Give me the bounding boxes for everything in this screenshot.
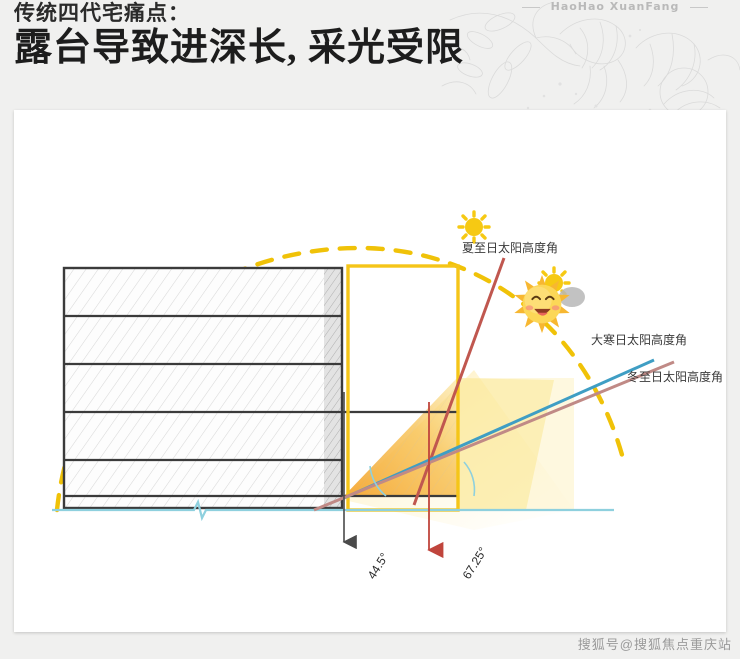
label-summer-solstice-angle: 夏至日太阳高度角 xyxy=(462,239,558,256)
page-title: 露台导致进深长, 采光受限 xyxy=(14,22,534,74)
diagram-card: 44.5° 67.25° xyxy=(14,110,726,632)
angle-label-upper: 67.25° xyxy=(460,544,490,581)
angle-label-lower: 44.5° xyxy=(365,550,392,581)
label-great-cold-day-angle: 大寒日太阳高度角 xyxy=(591,331,687,348)
sun-marker-summer xyxy=(459,212,489,242)
headline-kicker: 传统四代宅痛点： xyxy=(14,0,534,22)
smiling-sun-icon xyxy=(511,273,573,335)
label-winter-solstice-angle: 冬至日太阳高度角 xyxy=(627,368,723,385)
headline-block: 传统四代宅痛点： 露台导致进深长, 采光受限 xyxy=(14,0,534,74)
source-watermark: 搜狐号@搜狐焦点重庆站 xyxy=(578,634,732,653)
brand-watermark: 好 好 选 房 HaoHao XuanFang xyxy=(510,0,720,13)
source-watermark-text: 搜狐号@搜狐焦点重庆站 xyxy=(578,637,732,652)
brand-watermark-roman: HaoHao XuanFang xyxy=(510,0,720,13)
page-root: 好 好 选 房 HaoHao XuanFang 传统四代宅痛点： 露台导致进深长… xyxy=(0,0,740,659)
sun-angle-diagram: 44.5° 67.25° xyxy=(14,110,726,632)
